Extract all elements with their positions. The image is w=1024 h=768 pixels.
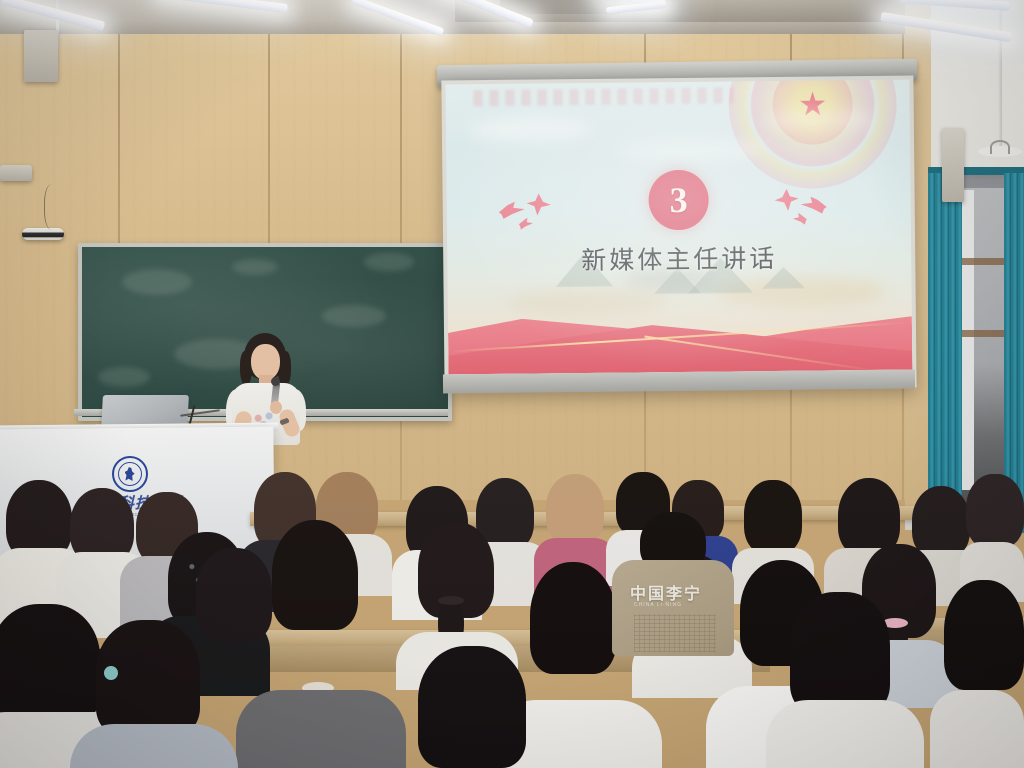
ceiling-hook-icon <box>990 140 1010 154</box>
lining-shirt-subtext: CHINA LI-NING <box>634 602 682 608</box>
university-logo-icon <box>112 456 148 492</box>
slide-number: 3 <box>669 182 687 218</box>
doves-left-icon <box>499 191 557 234</box>
audience-body <box>930 690 1024 768</box>
wall-unit-right <box>942 128 964 202</box>
ceiling-duct <box>500 0 620 14</box>
audience-body <box>70 724 238 768</box>
audience-body <box>236 690 406 768</box>
accordion-door-left[interactable] <box>928 170 962 533</box>
audience-head <box>744 480 802 554</box>
audience-head <box>530 562 616 674</box>
cloud <box>508 288 668 316</box>
audience-head <box>966 474 1024 548</box>
wall-speaker-upper-left <box>24 30 58 82</box>
hair-pin-icon <box>104 666 118 680</box>
lining-shirt-text: 中国李宁 <box>630 580 702 604</box>
audience-head <box>546 474 604 544</box>
wall-speaker-left <box>0 165 32 181</box>
lecture-hall-photo: 3 新媒体主任讲话 <box>0 0 1024 768</box>
presentation-slide: 3 新媒体主任讲话 <box>445 80 912 375</box>
cloud <box>470 117 590 142</box>
camera-bar-icon <box>22 228 64 240</box>
slide-number-badge: 3 <box>648 170 709 231</box>
slide-top-banner-decoration <box>473 87 733 106</box>
hair-tie <box>438 596 464 605</box>
microphone-head-icon <box>271 377 280 386</box>
audience-head <box>0 604 100 724</box>
audience-head <box>272 520 358 630</box>
projector-screen: 3 新媒体主任讲话 <box>441 76 916 393</box>
audience-head <box>790 592 890 714</box>
cable <box>44 184 63 230</box>
doves-right-icon <box>769 186 827 229</box>
audience-head <box>418 646 526 768</box>
audience-head <box>944 580 1024 690</box>
audience-head <box>196 548 272 642</box>
audience-body-lining-shirt <box>612 560 734 656</box>
audience-body <box>766 700 924 768</box>
slide-title: 新媒体主任讲话 <box>447 238 911 279</box>
